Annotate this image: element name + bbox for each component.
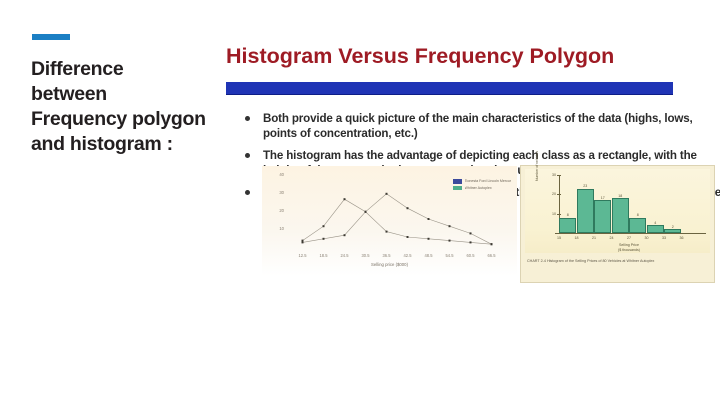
poly-y-tick: 40 — [270, 172, 284, 177]
poly-x-tick: 42.5 — [404, 253, 412, 258]
hist-y-tick: 30 — [543, 173, 556, 177]
hist-bar-value: 2 — [672, 225, 674, 229]
legend-swatch — [453, 179, 462, 184]
hist-bar — [612, 198, 629, 233]
poly-x-tick: 18.5 — [320, 253, 328, 258]
hist-bar-value: 17 — [601, 196, 605, 200]
hist-x-tick: 21 — [592, 236, 596, 240]
slide-image-panel: Histogram Versus Frequency Polygon Both … — [272, 0, 720, 404]
hist-plot-area: 8231718842 — [559, 175, 699, 233]
hist-y-axis-label: Number of vehicles — [535, 151, 539, 181]
heading-line-3: Frequency polygon — [31, 107, 256, 132]
hist-bar — [647, 225, 664, 233]
hist-x-tick: 27 — [627, 236, 631, 240]
hist-inner-frame: Number of vehicles 102030 8231718842 151… — [525, 169, 710, 253]
heading-line-4: and histogram : — [31, 132, 256, 157]
legend-item: Tionesta Ford Lincoln Mercury — [453, 179, 511, 184]
slide-title: Histogram Versus Frequency Polygon — [226, 44, 706, 69]
hist-bar — [559, 218, 576, 234]
poly-y-tick: 10 — [270, 226, 284, 231]
hist-x-tick: 30 — [645, 236, 649, 240]
legend-swatch — [453, 186, 462, 191]
poly-x-tick: 12.5 — [299, 253, 307, 258]
poly-x-tick: 24.5 — [341, 253, 349, 258]
accent-rule — [32, 34, 70, 40]
heading-line-2: between — [31, 82, 256, 107]
list-item: Both provide a quick picture of the main… — [237, 111, 720, 142]
hist-y-tick: 10 — [543, 212, 556, 216]
legend-label: Tionesta Ford Lincoln Mercury — [465, 179, 512, 183]
hist-bar — [577, 189, 594, 234]
hist-x-axis-label: Selling Price($ thousands) — [559, 243, 699, 252]
legend-item: Whitner Autoplex — [453, 186, 511, 191]
hist-bar-value: 4 — [654, 221, 656, 225]
poly-x-axis-label: Selling price ($000) — [262, 262, 517, 267]
poly-y-tick: 30 — [270, 190, 284, 195]
hist-x-tick: 15 — [557, 236, 561, 240]
poly-x-tick: 54.5 — [446, 253, 454, 258]
hist-y-tick: 20 — [543, 192, 556, 196]
heading-line-1: Difference — [31, 57, 256, 82]
poly-x-tick: 60.5 — [467, 253, 475, 258]
hist-bar-value: 8 — [637, 213, 639, 217]
hist-bar — [664, 229, 681, 233]
poly-y-tick: 20 — [270, 208, 284, 213]
bullet-dot-icon — [245, 116, 250, 121]
slide-canvas: Difference between Frequency polygon and… — [0, 0, 720, 404]
legend-label: Whitner Autoplex — [465, 186, 492, 190]
figures-row: Frequency 10203040 12.518.524.530.536.54… — [262, 166, 720, 286]
hist-bar — [594, 200, 611, 233]
page-title: Difference between Frequency polygon and… — [31, 57, 256, 157]
poly-x-tick: 30.5 — [362, 253, 370, 258]
hist-x-tick: 33 — [662, 236, 666, 240]
hist-x-axis-label-line: ($ thousands) — [559, 248, 699, 253]
hist-x-tick: 36 — [680, 236, 684, 240]
frequency-polygon-chart: Frequency 10203040 12.518.524.530.536.54… — [262, 166, 517, 276]
hist-bar-value: 8 — [567, 213, 569, 217]
poly-legend: Tionesta Ford Lincoln MercuryWhitner Aut… — [453, 179, 511, 192]
poly-x-tick: 48.5 — [425, 253, 433, 258]
bullet-dot-icon — [245, 190, 250, 195]
bullet-text: Both provide a quick picture of the main… — [263, 112, 693, 140]
poly-x-tick: 66.5 — [488, 253, 496, 258]
hist-x-tick: 24 — [610, 236, 614, 240]
hist-bar — [629, 218, 646, 234]
hist-caption: CHART 2-4 Histogram of the Selling Price… — [527, 259, 710, 263]
bullet-dot-icon — [245, 153, 250, 158]
title-underline-bar — [226, 82, 673, 95]
hist-bar-value: 18 — [618, 194, 622, 198]
hist-x-tick: 18 — [575, 236, 579, 240]
histogram-chart: Number of vehicles 102030 8231718842 151… — [520, 165, 715, 283]
poly-x-tick: 36.5 — [383, 253, 391, 258]
hist-bar-value: 23 — [583, 184, 587, 188]
hist-x-axis-line — [555, 233, 706, 234]
